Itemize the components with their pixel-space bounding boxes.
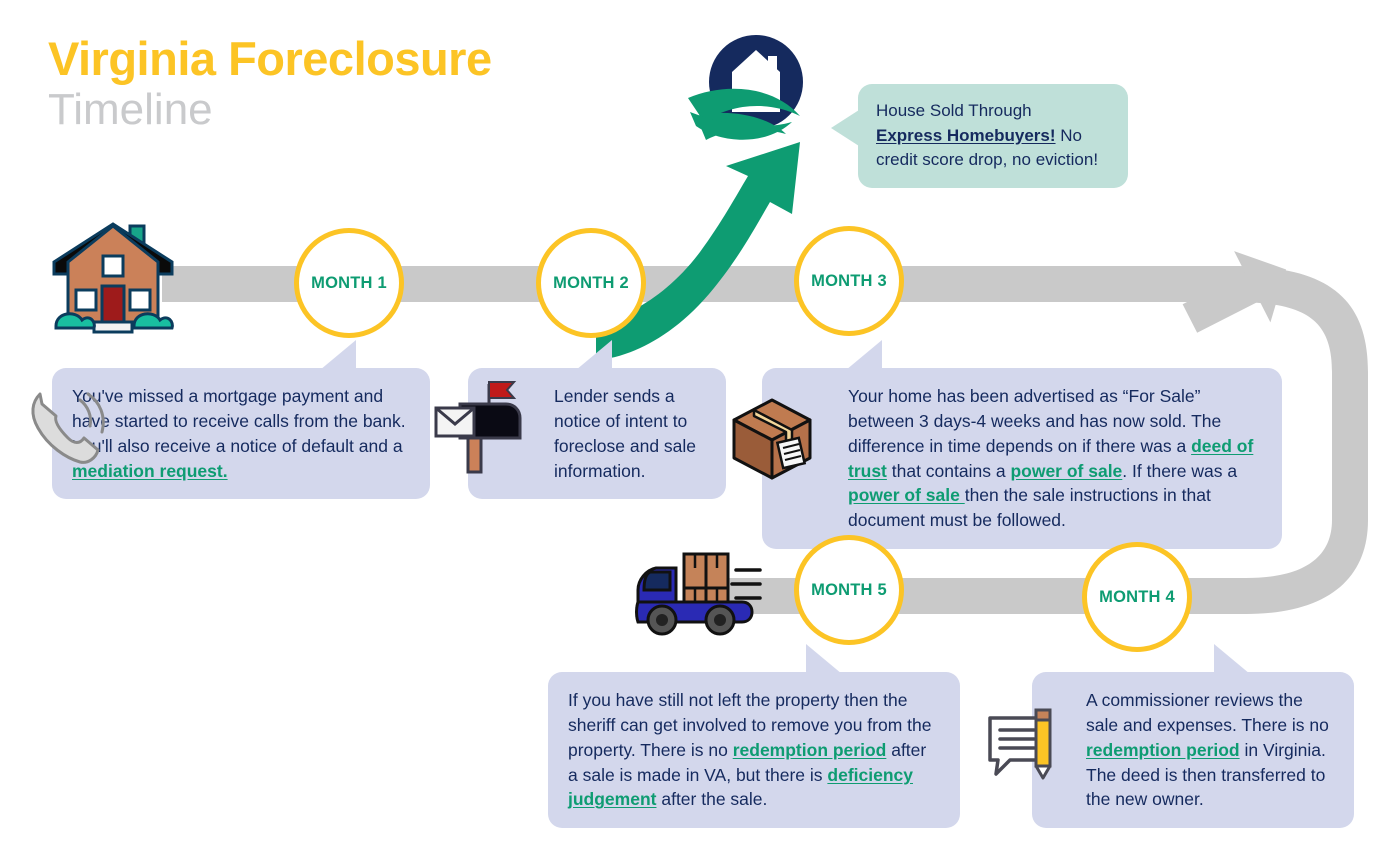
house-icon	[46, 214, 180, 342]
power-of-sale-link-1[interactable]: power of sale	[1010, 461, 1122, 481]
redemption-period-link-month4[interactable]: redemption period	[1086, 740, 1240, 760]
month-3-text-seg2: that contains a	[887, 461, 1011, 481]
highlight-line1: House Sold Through	[876, 101, 1032, 120]
month-3-description-bubble: Your home has been advertised as “For Sa…	[762, 368, 1282, 549]
month-5-label: MONTH 5	[811, 581, 887, 600]
month-2-text: Lender sends a notice of intent to forec…	[554, 386, 696, 481]
express-homebuyers-link[interactable]: Express Homebuyers!	[876, 126, 1056, 145]
bubble-tail	[576, 340, 612, 370]
month-1-text: You've missed a mortgage payment and hav…	[72, 386, 406, 456]
month-5-description-bubble: If you have still not left the property …	[548, 672, 960, 828]
bubble-tail	[831, 110, 859, 146]
highlight-speech-bubble: House Sold Through Express Homebuyers! N…	[858, 84, 1128, 188]
month-1-label: MONTH 1	[311, 274, 387, 293]
timeline-node-month-5[interactable]: MONTH 5	[794, 535, 904, 645]
bubble-tail	[846, 340, 882, 370]
timeline-node-month-3[interactable]: MONTH 3	[794, 226, 904, 336]
timeline-node-month-1[interactable]: MONTH 1	[294, 228, 404, 338]
bubble-tail	[1214, 644, 1250, 674]
mailbox-icon	[434, 372, 526, 476]
month-5-text-seg3: after the sale.	[656, 789, 767, 809]
redemption-period-link-month5[interactable]: redemption period	[733, 740, 887, 760]
month-2-label: MONTH 2	[553, 274, 629, 293]
month-4-text-seg1: A commissioner reviews the sale and expe…	[1086, 690, 1329, 735]
bubble-tail	[806, 644, 842, 674]
month-4-label: MONTH 4	[1099, 588, 1175, 607]
express-homebuyers-logo	[682, 30, 830, 162]
document-pencil-icon	[986, 704, 1068, 782]
power-of-sale-link-2[interactable]: power of sale	[848, 485, 965, 505]
moving-truck-icon	[632, 546, 766, 638]
month-4-description-bubble: A commissioner reviews the sale and expe…	[1032, 672, 1354, 828]
month-3-text-seg1: Your home has been advertised as “For Sa…	[848, 386, 1221, 456]
infographic-canvas: Virginia Foreclosure Timeline	[0, 0, 1396, 867]
package-box-icon	[730, 396, 814, 482]
month-3-text-seg3: . If there was a	[1122, 461, 1237, 481]
bubble-tail	[320, 340, 356, 370]
month-3-label: MONTH 3	[811, 272, 887, 291]
timeline-node-month-2[interactable]: MONTH 2	[536, 228, 646, 338]
phone-icon	[26, 386, 112, 470]
timeline-node-month-4[interactable]: MONTH 4	[1082, 542, 1192, 652]
